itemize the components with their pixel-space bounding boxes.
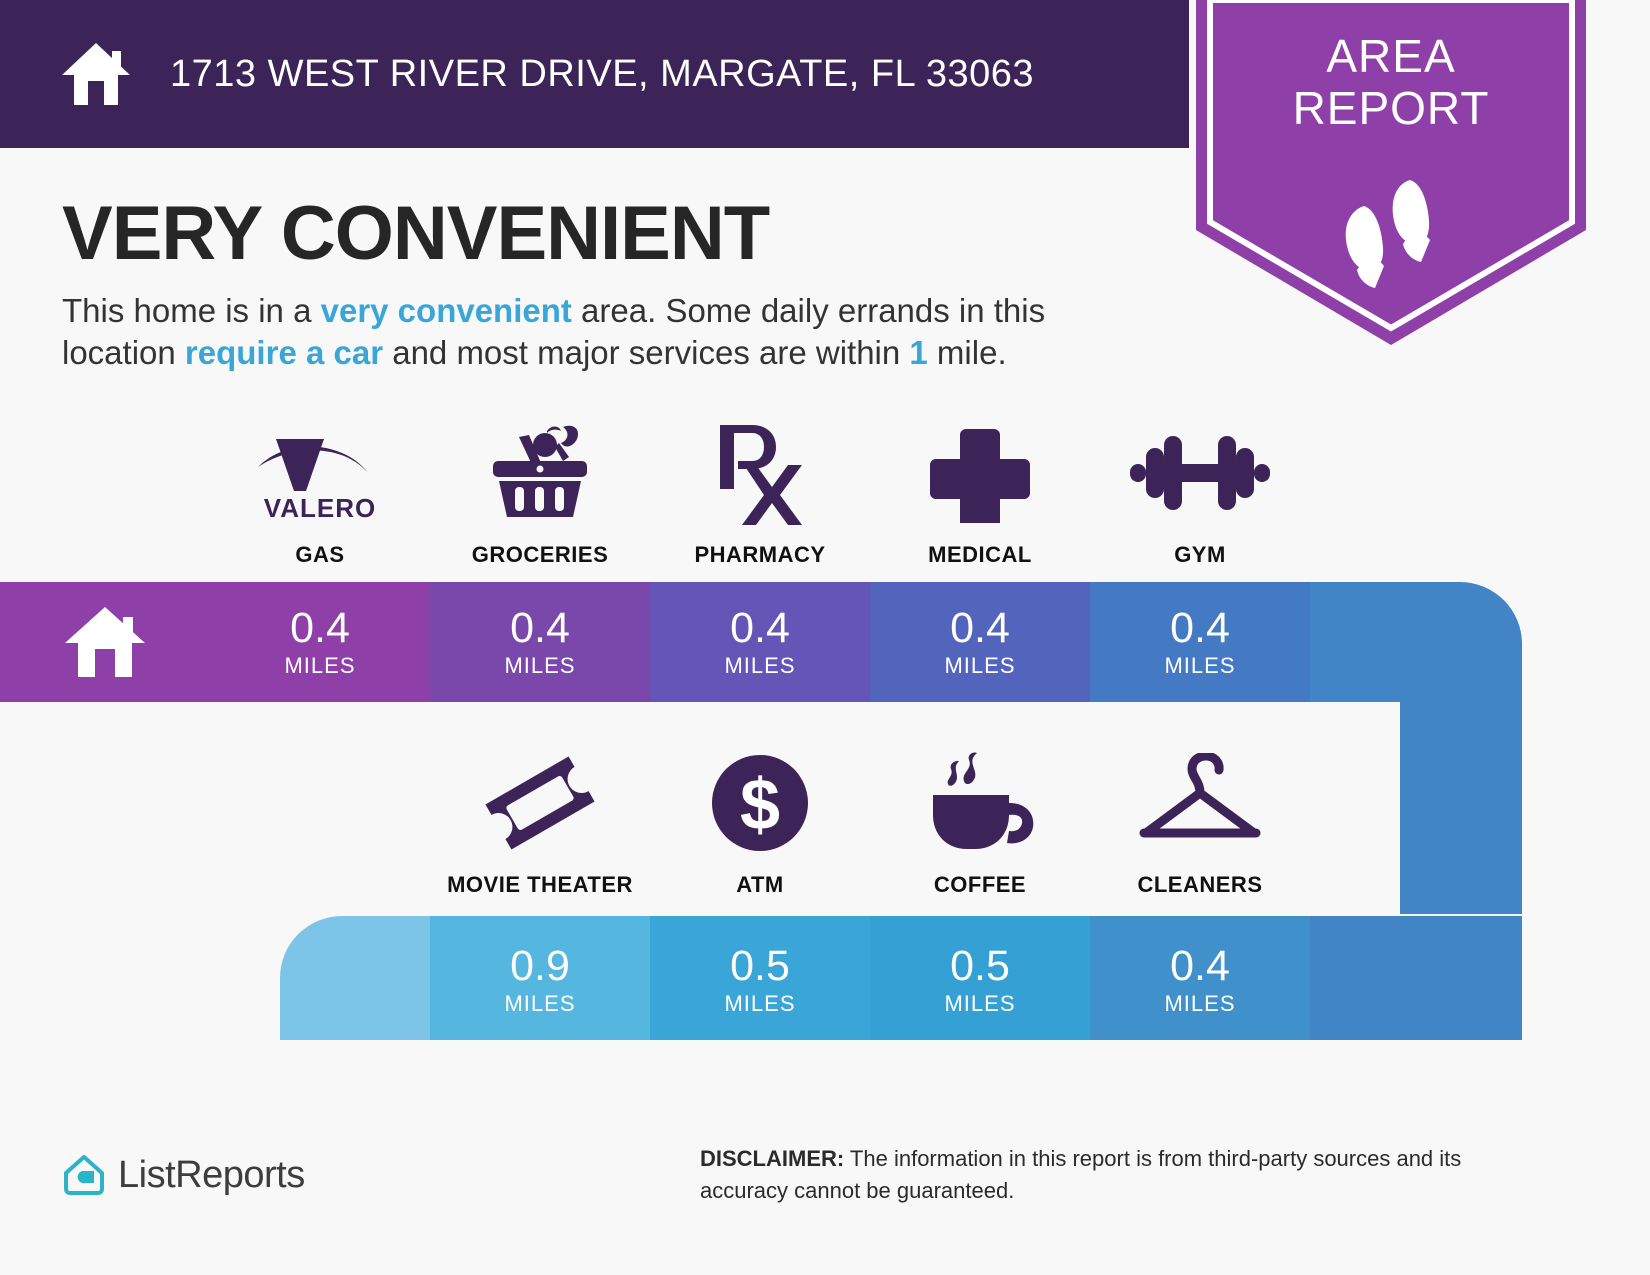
right-connector-fill (1400, 702, 1522, 914)
category-label: CLEANERS (1137, 872, 1262, 898)
category-pharmacy[interactable]: PHARMACY (650, 418, 870, 568)
row2-segment-tail (1310, 916, 1522, 1040)
row2-segment-movie (430, 916, 650, 1040)
row1-segment-pharmacy (650, 582, 870, 702)
coffee-cup-icon (925, 748, 1035, 858)
row2-icon-list: MOVIE THEATER $ ATM COFFEE (430, 748, 1310, 898)
property-address: 1713 WEST RIVER DRIVE, MARGATE, FL 33063 (170, 53, 1034, 96)
home-icon (60, 41, 132, 107)
category-coffee[interactable]: COFFEE (870, 748, 1090, 898)
category-label: GROCERIES (472, 542, 609, 568)
row2-segment-coffee (870, 916, 1090, 1040)
row1-segment-medical (870, 582, 1090, 702)
valero-logo-icon: VALERO (250, 418, 390, 528)
category-label: ATM (736, 872, 784, 898)
medical-cross-icon (930, 418, 1030, 528)
disclaimer-label: DISCLAIMER: (700, 1146, 844, 1171)
svg-text:$: $ (740, 765, 780, 845)
basket-icon (485, 418, 595, 528)
category-gym[interactable]: GYM (1090, 418, 1310, 568)
category-label: GAS (295, 542, 344, 568)
category-label: COFFEE (934, 872, 1026, 898)
category-groceries[interactable]: GROCERIES (430, 418, 650, 568)
row1-segment-gym (1090, 582, 1310, 702)
area-report-badge: AREA REPORT (1196, 0, 1586, 350)
hanger-icon (1130, 748, 1270, 858)
badge-pennant-shape (1196, 0, 1586, 350)
row1-bar-segments (0, 582, 1560, 702)
category-cleaners[interactable]: CLEANERS (1090, 748, 1310, 898)
category-label: GYM (1174, 542, 1226, 568)
row2-segment-atm (650, 916, 870, 1040)
dumbbell-icon (1130, 418, 1270, 528)
listreports-house-icon (62, 1153, 106, 1197)
category-label: MEDICAL (928, 542, 1032, 568)
category-label: MOVIE THEATER (447, 872, 633, 898)
category-label: PHARMACY (694, 542, 825, 568)
listreports-logo[interactable]: ListReports (62, 1153, 305, 1197)
home-icon (63, 605, 147, 679)
row1-icon-list: VALERO GAS (210, 418, 1310, 568)
row2-segment-cleaners (1090, 916, 1310, 1040)
category-atm[interactable]: $ ATM (650, 748, 870, 898)
listreports-logo-text: ListReports (118, 1154, 305, 1197)
dollar-circle-icon: $ (710, 748, 810, 858)
row1-segment-groceries (430, 582, 650, 702)
category-gas[interactable]: VALERO GAS (210, 418, 430, 568)
rx-icon (710, 418, 810, 528)
category-movie-theater[interactable]: MOVIE THEATER (430, 748, 650, 898)
ticket-icon (482, 748, 598, 858)
category-medical[interactable]: MEDICAL (870, 418, 1090, 568)
row1-segment-gas (210, 582, 430, 702)
row2-bar-segments (280, 916, 1522, 1275)
svg-text:VALERO: VALERO (264, 493, 376, 523)
disclaimer: DISCLAIMER: The information in this repo… (700, 1143, 1530, 1207)
header-bar: 1713 WEST RIVER DRIVE, MARGATE, FL 33063 (0, 0, 1189, 148)
home-marker-tile (0, 582, 210, 702)
row1-segment-tail (1310, 582, 1560, 702)
